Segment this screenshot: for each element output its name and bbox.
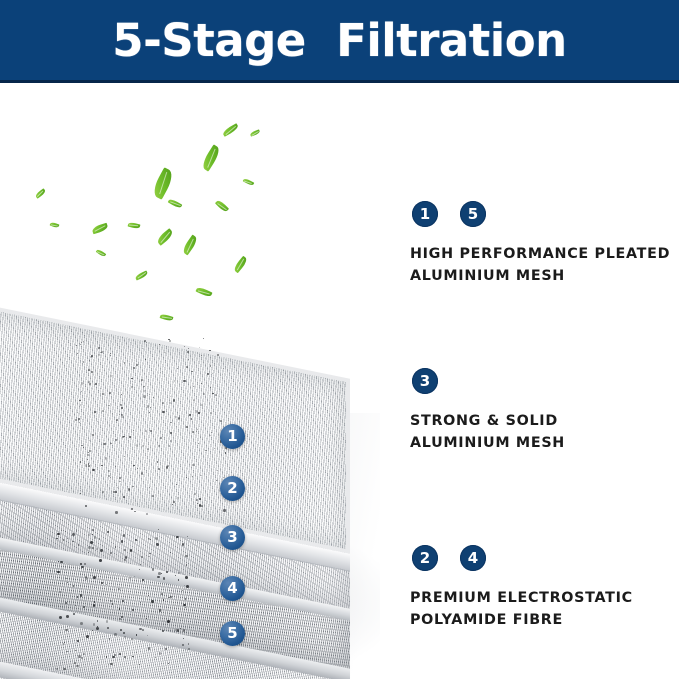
stack-badge-2: 2 [220,476,245,501]
stack-badge-5: 5 [220,621,245,646]
dust-particle [65,629,67,631]
header-band: 5-Stage Filtration [0,0,679,83]
dust-particle [132,381,133,382]
dust-particle [209,350,210,351]
stack-badge-4: 4 [220,576,245,601]
dust-particle [110,355,111,356]
dust-particle [81,391,82,392]
dust-particle [89,450,91,452]
dust-particle [146,513,148,515]
dust-particle [59,616,62,619]
leaf-icon [195,286,212,298]
dust-particle [108,470,110,472]
dust-particle [142,445,144,447]
dust-particle [80,594,83,597]
dust-particle [132,486,133,487]
dust-particle [200,437,201,438]
dust-particle [88,465,90,467]
dust-particle [66,651,67,652]
legend-block-solid-aluminium: 3 STRONG & SOLID ALUMINIUM MESH [410,368,679,454]
dust-particle [109,392,111,394]
leaf-icon [200,144,222,171]
dust-particle [124,559,126,561]
legend-badges-3: 3 [410,368,679,394]
dust-particle [149,556,150,557]
legend-badge-2: 2 [412,545,438,571]
dust-particle [113,651,115,653]
leaf-icon [243,178,255,187]
leaf-icon [35,188,47,198]
dust-particle [83,606,85,608]
dust-particle [94,411,96,413]
leaf-icon [215,199,229,213]
dust-particle [80,404,81,405]
legend-column: 1 5 HIGH PERFORMANCE PLEATED ALUMINIUM M… [410,83,679,679]
dust-particle [186,585,189,588]
legend-text-line1: HIGH PERFORMANCE PLEATED [410,243,679,265]
legend-badge-4: 4 [460,545,486,571]
dust-particle [110,477,111,478]
dust-particle [223,477,224,478]
legend-badge-5: 5 [460,201,486,227]
dust-particle [158,445,160,447]
leaf-icon [160,313,174,322]
dust-particle [183,380,185,382]
dust-particle [189,414,191,416]
dust-particle [203,338,204,339]
dust-particle [169,402,171,404]
legend-badges-1-5: 1 5 [410,201,679,227]
dust-particle [168,597,169,598]
dust-particle [75,650,76,651]
dust-particle [106,656,107,657]
dust-particle [80,622,83,625]
dust-particle [182,543,184,545]
dust-particle [167,465,169,467]
dust-particle [185,607,186,608]
dust-particle [119,653,121,655]
dust-particle [89,440,90,441]
dust-particle [183,629,185,631]
dust-particle [198,443,199,444]
dust-particle [201,505,203,507]
dust-particle [103,443,105,445]
dust-particle [66,578,67,579]
dust-particle [188,359,189,360]
leaf-icon [135,270,149,280]
dust-particle [133,430,134,431]
dust-particle [115,466,116,467]
dust-particle [186,366,188,368]
dust-particle [100,388,101,389]
dust-particle [124,656,126,658]
dust-particle [205,450,206,451]
dust-particle [102,545,103,546]
dust-particle [158,468,160,470]
product-infographic: 5-Stage Filtration [0,0,679,679]
dust-particle [205,500,206,501]
dust-particle [91,355,93,357]
dust-particle [147,448,149,450]
dust-particle [74,662,76,664]
dust-particle [212,373,213,374]
dust-particle [121,414,123,416]
dust-particle [57,533,59,535]
leaf-icon [91,223,108,235]
leaf-icon [232,256,248,274]
dust-particle [165,648,167,650]
dust-particle [201,404,203,406]
dust-particle [178,579,179,580]
legend-badges-2-4: 2 4 [410,545,679,571]
dust-particle [88,369,90,371]
legend-block-pleated-aluminium: 1 5 HIGH PERFORMANCE PLEATED ALUMINIUM M… [410,201,679,287]
dust-particle [153,397,154,398]
dust-particle [131,386,132,387]
dust-particle [117,487,118,488]
dust-particle [200,475,201,476]
dust-particle [100,549,103,552]
dust-particle [110,552,112,554]
dust-particle [113,491,115,493]
dust-particle [120,629,122,631]
dust-particle [118,588,120,590]
dust-particle [210,412,212,414]
dust-particle [160,437,162,439]
dust-particle [106,620,108,622]
dust-particle [187,351,189,353]
dust-particle [80,344,81,345]
legend-badge-3: 3 [412,368,438,394]
dust-particle [78,418,80,420]
dust-particle [115,511,117,513]
dust-particle [65,531,66,532]
leaf-icon [181,235,199,256]
dust-particle [147,405,149,407]
dust-particle [131,508,133,510]
dust-particle [129,436,131,438]
dust-particle [115,439,116,440]
dust-particle [83,447,84,448]
legend-block-polyamide-fibre: 2 4 PREMIUM ELECTROSTATIC POLYAMIDE FIBR… [410,545,679,631]
dust-particle [141,556,143,558]
leaf-icon [128,222,141,230]
leaf-icon [156,228,175,246]
dust-particle [124,636,126,638]
dust-particle [157,576,159,578]
dust-particle [199,347,200,348]
dust-particle [86,635,89,638]
dust-particle [115,491,117,493]
dust-particle [143,386,144,387]
page-title: 5-Stage Filtration [0,0,679,80]
dust-particle [99,559,102,562]
filter-stack-illustration: 1 2 3 4 5 [0,83,380,679]
stack-badge-1: 1 [220,424,245,449]
dust-particle [93,623,95,625]
dust-particle [177,497,179,499]
dust-particle [175,416,177,418]
dust-particle [152,568,155,571]
dust-particle [73,613,75,615]
dust-particle [159,609,162,612]
dust-particle [180,628,181,629]
dust-particle [88,463,90,465]
dust-particle [128,488,130,490]
legend-text-line2: POLYAMIDE FIBRE [410,609,679,631]
dust-particle [136,364,138,366]
leaf-icon [168,198,183,209]
leaf-icon [250,129,261,136]
leaf-icon [222,123,240,137]
dust-particle [63,668,66,671]
dust-particle [121,416,123,418]
dust-particle [194,493,196,495]
legend-text-line2: ALUMINIUM MESH [410,265,679,287]
dust-particle [211,432,212,433]
dust-particle [157,461,158,462]
dust-particle [177,536,179,538]
dust-particle [177,368,178,369]
dust-particle [85,464,87,466]
dust-particle [96,627,99,630]
leaf-icon [150,167,176,200]
dust-particle [156,543,159,546]
leaf-icon [50,222,60,229]
dust-particle [101,582,103,584]
dust-particle [119,618,120,619]
dust-particle [83,653,85,655]
dust-particle [161,593,163,595]
legend-text-line1: PREMIUM ELECTROSTATIC [410,587,679,609]
dust-particle [146,618,147,619]
dust-particle [96,548,98,550]
dust-particle [143,395,145,397]
dust-particle [119,481,120,482]
dust-particle [191,418,192,419]
dust-particle [135,539,137,541]
dust-particle [139,664,140,665]
dust-particle [159,344,160,345]
dust-particle [77,596,78,597]
dust-particle [148,595,149,596]
dust-particle [199,498,201,500]
dust-particle [81,382,83,384]
leaf-icon [96,248,106,257]
dust-particle [178,572,180,574]
dust-particle [120,404,122,406]
dust-particle [185,555,187,557]
dust-particle [61,530,62,531]
dust-particle [139,628,141,630]
dust-particle [155,537,158,540]
dust-particle [162,411,164,413]
dust-particle [80,563,82,565]
dust-particle [152,495,154,497]
dust-particle [193,399,195,401]
dust-particle [99,538,100,539]
dust-particle [170,432,171,433]
dust-particle [72,533,75,536]
dust-particle [121,540,124,543]
dust-particle [192,464,194,466]
dust-particle [107,627,109,629]
legend-text-line2: ALUMINIUM MESH [410,432,679,454]
dust-particle [67,538,68,539]
dust-particle [114,633,116,635]
dust-particle [58,561,59,562]
dust-particle [203,393,205,395]
dust-particle [97,626,98,627]
dust-particle [167,620,169,622]
dust-particle [78,655,81,658]
dust-particle [79,400,80,401]
dust-particle [209,435,211,437]
dust-particle [76,665,78,667]
legend-text-line1: STRONG & SOLID [410,410,679,432]
dust-particle [60,561,62,563]
dust-particle [223,509,225,511]
dust-particle [109,638,110,639]
dust-particle [105,457,107,459]
stack-badge-3: 3 [220,525,245,550]
legend-badge-1: 1 [412,201,438,227]
dust-particle [110,600,112,602]
dust-particle [173,501,175,503]
